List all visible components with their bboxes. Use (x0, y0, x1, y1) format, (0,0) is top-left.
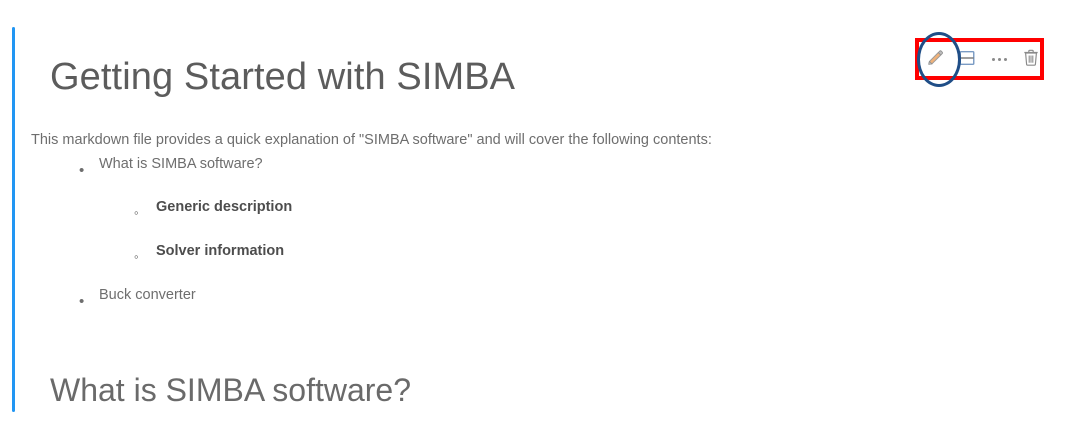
edit-button[interactable] (920, 44, 950, 74)
list-item: ◦ Solver information (31, 242, 931, 286)
left-accent-rail (12, 27, 15, 412)
split-view-button[interactable] (952, 44, 982, 74)
delete-button[interactable] (1016, 44, 1046, 74)
document-toolbar (920, 43, 1046, 75)
list-item: • Buck converter (31, 286, 931, 329)
document-page: Getting Started with SIMBA This markdown… (0, 0, 1067, 422)
list-item-label: Buck converter (99, 286, 196, 306)
intro-paragraph: This markdown file provides a quick expl… (31, 130, 712, 150)
list-item-label: Solver information (156, 242, 284, 262)
list-item: • What is SIMBA software? (31, 155, 931, 198)
page-title: Getting Started with SIMBA (50, 56, 515, 100)
document-content: Getting Started with SIMBA This markdown… (31, 0, 1031, 422)
bullet-marker-filled: • (79, 163, 84, 178)
bullet-marker-hollow: ◦ (134, 206, 139, 219)
list-item-label: Generic description (156, 198, 292, 218)
section-heading: What is SIMBA software? (50, 372, 411, 409)
table-of-contents-list: • What is SIMBA software? ◦ Generic desc… (31, 155, 931, 329)
edit-pencil-icon (925, 48, 945, 71)
more-options-icon (992, 58, 1007, 61)
bullet-marker-filled: • (79, 294, 84, 309)
more-options-button[interactable] (984, 44, 1014, 74)
list-item-label: What is SIMBA software? (99, 155, 263, 175)
list-item: ◦ Generic description (31, 198, 931, 242)
bullet-marker-hollow: ◦ (134, 250, 139, 263)
delete-trash-icon (1022, 48, 1040, 70)
split-view-icon (958, 49, 976, 70)
